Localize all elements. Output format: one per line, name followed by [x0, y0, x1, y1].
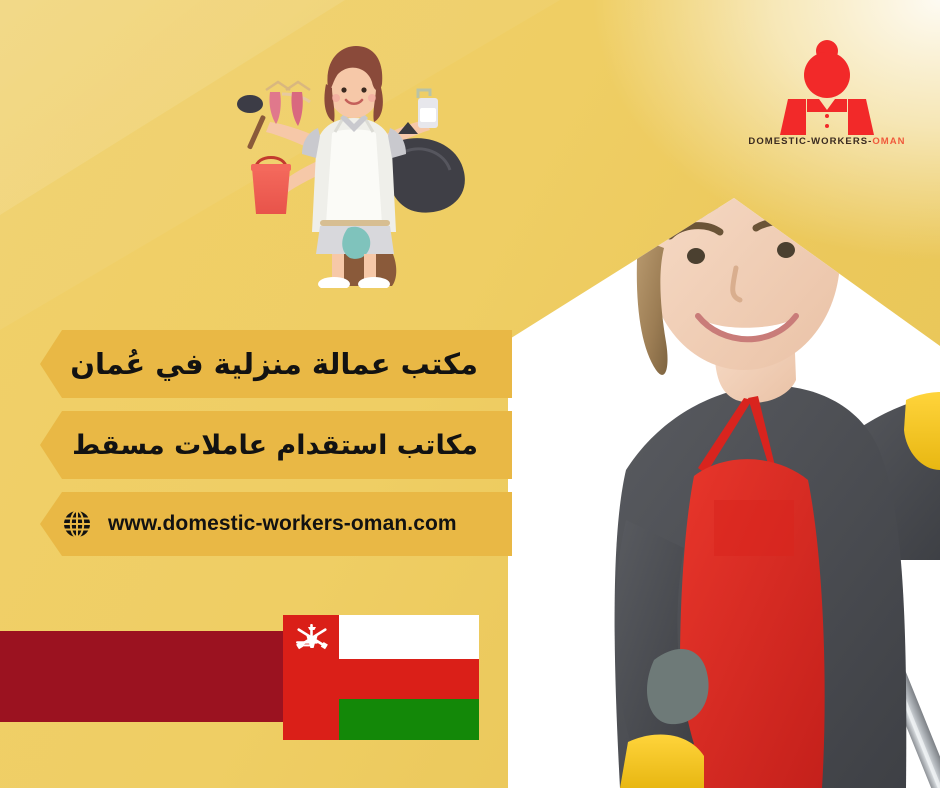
red-accent-bar [0, 631, 285, 722]
domestic-worker-figure-icon [748, 38, 906, 134]
flag-white-band [339, 615, 479, 659]
brand-logo[interactable]: DOMESTIC-WORKERS-OMAN [748, 38, 906, 160]
headline-ribbon: مكتب عمالة منزلية في عُمان [40, 330, 512, 398]
oman-flag [283, 615, 479, 740]
logo-collar [807, 99, 847, 112]
logo-head [804, 52, 850, 98]
logo-shoulder-right [848, 99, 874, 135]
subheadline-text: مكاتب استقدام عاملات مسقط [40, 430, 512, 461]
website-url-text[interactable]: www.domestic-workers-oman.com [108, 512, 457, 536]
khanjar-dagger-emblem [292, 623, 332, 657]
logo-wordmark: DOMESTIC-WORKERS-OMAN [748, 136, 906, 147]
logo-button-bottom [825, 124, 829, 128]
logo-button-top [825, 114, 829, 118]
globe-icon [62, 509, 92, 539]
multitasking-cleaning-lady-illustration [232, 32, 476, 288]
logo-shoulder-left [780, 99, 806, 135]
poster-canvas: DOMESTIC-WORKERS-OMAN [0, 0, 940, 788]
headline-text: مكتب عمالة منزلية في عُمان [40, 347, 512, 381]
website-ribbon[interactable]: www.domestic-workers-oman.com [40, 492, 512, 556]
logo-wordmark-accent: OMAN [872, 136, 905, 147]
subheadline-ribbon: مكاتب استقدام عاملات مسقط [40, 411, 512, 479]
logo-wordmark-main: DOMESTIC-WORKERS- [748, 136, 872, 147]
flag-green-band [339, 699, 479, 740]
